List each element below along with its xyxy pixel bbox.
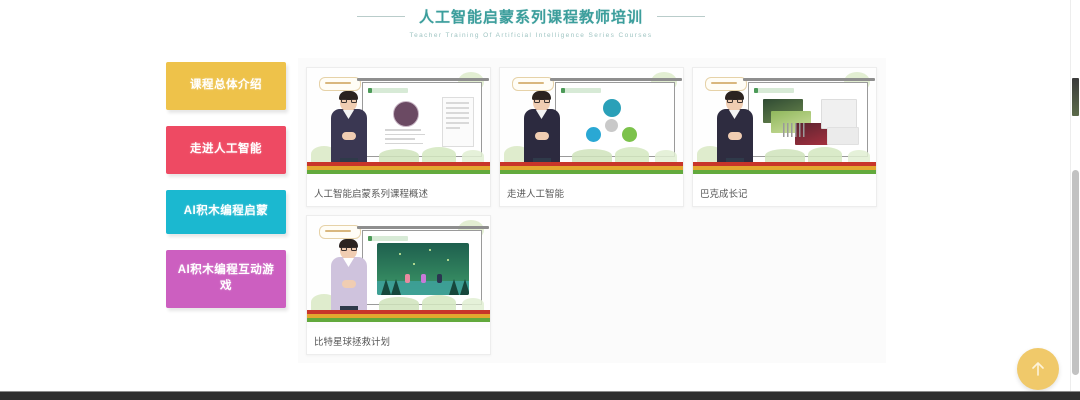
slide-avatar [393,101,419,127]
video-list-panel: 人工智能启蒙系列课程概述 [298,58,886,363]
board-title-marker [754,88,758,93]
board-title-chip [754,88,794,93]
thumbnail-scene [500,68,683,180]
slide-image [821,99,857,129]
video-card[interactable]: 走进人工智能 [499,67,684,207]
back-to-top-button[interactable] [1017,348,1059,390]
sidebar-item-ai-block-interactive-game[interactable]: AI积木编程互动游戏 [166,250,286,308]
window-edge-divider [1070,0,1071,400]
sidebar-item-label: AI积木编程启蒙 [184,204,269,220]
speech-bubble-icon [319,225,361,239]
video-card[interactable]: 人工智能启蒙系列课程概述 [306,67,491,207]
video-title: 走进人工智能 [500,180,683,206]
board-rail [357,78,489,81]
board-title-marker [561,88,565,93]
scrollbar-minimap [1072,78,1079,116]
title-row: 人工智能启蒙系列课程教师培训 [357,6,705,27]
board-rail [743,78,875,81]
presentation-board [748,82,868,157]
page-root: 人工智能启蒙系列课程教师培训 Teacher Training Of Artif… [0,0,1080,400]
sidebar-item-ai-block-programming[interactable]: AI积木编程启蒙 [166,190,286,234]
scrollbar-thumb[interactable] [1072,170,1079,375]
sidebar-item-label: 课程总体介绍 [190,78,262,94]
presentation-board [362,230,482,305]
diagram-hub-node [605,119,618,132]
board-title-marker [368,88,372,93]
video-thumbnail[interactable] [307,216,490,328]
video-card[interactable]: 比特星球拯救计划 [306,215,491,355]
speech-bubble-icon [319,77,361,91]
board-title-marker [368,236,372,241]
presentation-board [555,82,675,157]
presenter-figure [717,92,753,166]
sidebar-item-course-overview[interactable]: 课程总体介绍 [166,62,286,110]
sidebar-item-intro-to-ai[interactable]: 走进人工智能 [166,126,286,174]
title-rule-right [657,16,705,17]
page-header: 人工智能启蒙系列课程教师培训 Teacher Training Of Artif… [0,6,1062,52]
page-subtitle: Teacher Training Of Artificial Intellige… [409,32,652,39]
title-rule-left [357,16,405,17]
presentation-board [362,82,482,157]
slide-image [827,127,859,145]
board-rail [550,78,682,81]
arrow-up-icon [1028,359,1048,379]
board-title-chip [561,88,601,93]
scrollbar-track[interactable] [1071,0,1080,400]
slide-text-lines [385,129,425,147]
video-title: 比特星球拯救计划 [307,328,490,354]
presenter-figure [331,92,367,166]
video-card[interactable]: 巴克成长记 [692,67,877,207]
video-thumbnail[interactable] [500,68,683,180]
sidebar-item-label: 走进人工智能 [190,142,262,158]
video-title: 人工智能启蒙系列课程概述 [307,180,490,206]
speech-bubble-icon [705,77,747,91]
speech-bubble-icon [512,77,554,91]
sidebar-nav: 课程总体介绍 走进人工智能 AI积木编程启蒙 AI积木编程互动游戏 [166,62,286,324]
slide-chart [783,123,805,137]
page-title: 人工智能启蒙系列课程教师培训 [419,6,643,27]
diagram-node [603,99,621,117]
thumbnail-scene [693,68,876,180]
presenter-figure [331,240,367,314]
slide-document [442,97,474,147]
video-title: 巴克成长记 [693,180,876,206]
video-thumbnail[interactable] [693,68,876,180]
presenter-figure [524,92,560,166]
board-title-chip [368,88,408,93]
video-thumbnail[interactable] [307,68,490,180]
sidebar-item-label: AI积木编程互动游戏 [172,263,280,294]
video-grid: 人工智能启蒙系列课程概述 [306,67,878,355]
board-rail [357,226,489,229]
thumbnail-scene [307,68,490,180]
diagram-node [622,127,637,142]
game-scene-preview [377,243,469,295]
board-title-chip [368,236,408,241]
thumbnail-scene [307,216,490,328]
window-bottom-bar [0,391,1080,400]
diagram-node [586,127,601,142]
